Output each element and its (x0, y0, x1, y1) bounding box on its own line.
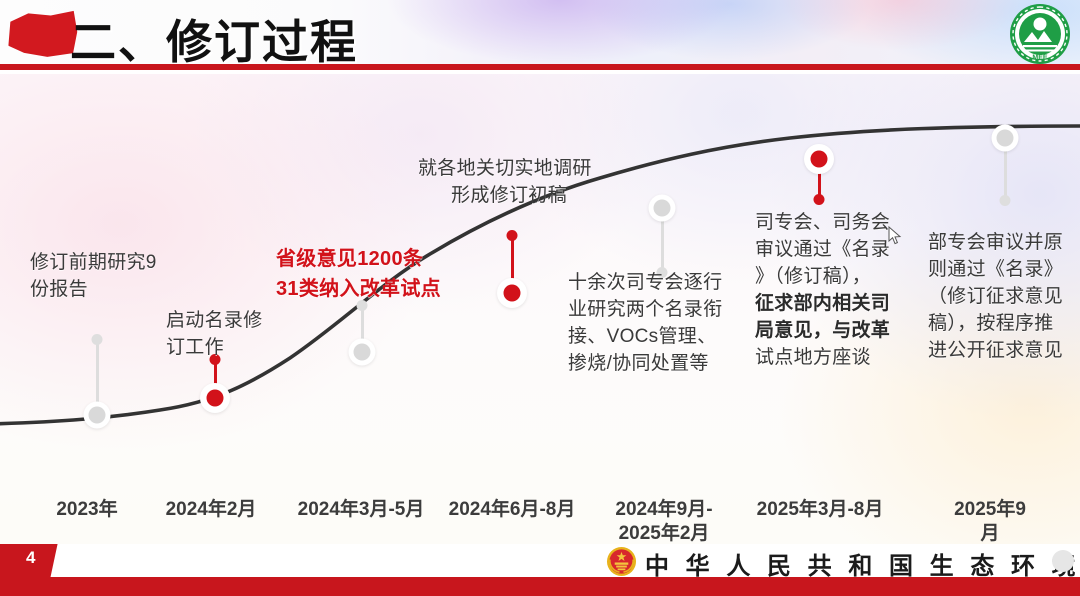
national-emblem-icon (606, 546, 637, 577)
callout-6-line-5: 局意见，与改革 (755, 318, 915, 345)
callout-5-line-2: 业研究两个名录衔 (568, 297, 740, 324)
callout-7-line-2: 则通过《名录》 (928, 257, 1080, 284)
callout-7-line-5: 进公开征求意见 (928, 338, 1080, 365)
callout-5-line-4: 掺烧/协同处置等 (568, 351, 740, 378)
axis-label-0: 2023年 (56, 498, 117, 522)
callout-5-line-1: 十余次司专会逐行 (568, 270, 740, 297)
milestone-stem-cap-4 (507, 230, 518, 241)
slide-footer: 0 汉 工 4 中 华 人 民 共 和 国 生 态 环 境 部 (0, 544, 1080, 596)
callout-2: 启动名录修 订工作 (166, 308, 316, 362)
milestone-stem-cap-6 (814, 194, 825, 205)
callout-3-line-1: 省级意见1200条 (276, 244, 466, 274)
node-dot (504, 285, 521, 302)
china-flag-icon (7, 9, 79, 59)
axis-label-1: 2024年2月 (166, 498, 257, 522)
axis-label-6: 2025年9月 (945, 498, 1035, 547)
callout-6-line-4: 征求部内相关司 (755, 291, 915, 318)
footer-watermark-circle (1052, 550, 1074, 572)
axis-label-2: 2024年3月-5月 (298, 498, 425, 522)
mouse-cursor-icon (888, 226, 902, 246)
footer-red-bar (0, 577, 1080, 596)
callout-3-highlight: 省级意见1200条 31类纳入改革试点 (276, 244, 466, 304)
callout-1-line-1: 修订前期研究9 (30, 250, 210, 277)
ministry-name: 中 华 人 民 共 和 国 生 态 环 境 部 (645, 546, 1080, 581)
callout-7-line-1: 部专会审议并原 (928, 230, 1080, 257)
callout-2-line-2: 订工作 (166, 335, 316, 362)
milestone-stem-5 (661, 214, 664, 272)
callout-1-line-2: 份报告 (30, 277, 210, 304)
page-title: 二、修订过程 (70, 6, 358, 70)
callout-7-line-4: 稿），按程序推 (928, 311, 1080, 338)
axis-label-5: 2025年3月-8月 (757, 498, 884, 522)
callout-4: 就各地关切实地调研 形成修订初稿 (418, 156, 618, 210)
callout-5: 十余次司专会逐行 业研究两个名录衔 接、VOCs管理、 掺烧/协同处置等 (568, 270, 740, 378)
slide-root: 二、修订过程 MEE (0, 0, 1080, 596)
callout-3-line-2: 31类纳入改革试点 (276, 274, 466, 304)
node-dot (811, 151, 828, 168)
node-dot (354, 344, 371, 361)
milestone-stem-cap-1 (92, 334, 103, 345)
mee-emblem-icon: MEE (1008, 2, 1072, 66)
callout-7-line-3: （修订征求意见 (928, 284, 1080, 311)
slide-header: 二、修订过程 MEE (0, 0, 1080, 70)
timeline-axis: 2023年 2024年2月 2024年3月-5月 2024年6月-8月 2024… (0, 486, 1080, 544)
callout-1: 修订前期研究9 份报告 (30, 250, 210, 304)
callout-2-line-1: 启动名录修 (166, 308, 316, 335)
callout-4-line-1: 就各地关切实地调研 (418, 156, 618, 183)
callout-6-line-3: 》（修订稿）， (755, 264, 915, 291)
milestone-stem-cap-7 (1000, 195, 1011, 206)
axis-label-3: 2024年6月-8月 (449, 498, 576, 522)
node-dot (654, 200, 671, 217)
s-curve-line (0, 74, 1080, 544)
callout-5-line-3: 接、VOCs管理、 (568, 324, 740, 351)
timeline-chart: 修订前期研究9 份报告 启动名录修 订工作 省级意见1200条 31类纳入改革试… (0, 74, 1080, 544)
node-dot (207, 390, 224, 407)
node-dot (997, 130, 1014, 147)
svg-text:MEE: MEE (1032, 55, 1048, 62)
axis-label-4: 2024年9月- 2025年2月 (615, 498, 712, 547)
node-dot (89, 407, 106, 424)
callout-4-line-2: 形成修订初稿 (418, 183, 618, 210)
header-red-rule (0, 64, 1080, 70)
callout-7: 部专会审议并原 则通过《名录》 （修订征求意见 稿），按程序推 进公开征求意见 (928, 230, 1080, 365)
callout-6-line-6: 试点地方座谈 (755, 345, 915, 372)
page-number: 4 (26, 548, 35, 568)
